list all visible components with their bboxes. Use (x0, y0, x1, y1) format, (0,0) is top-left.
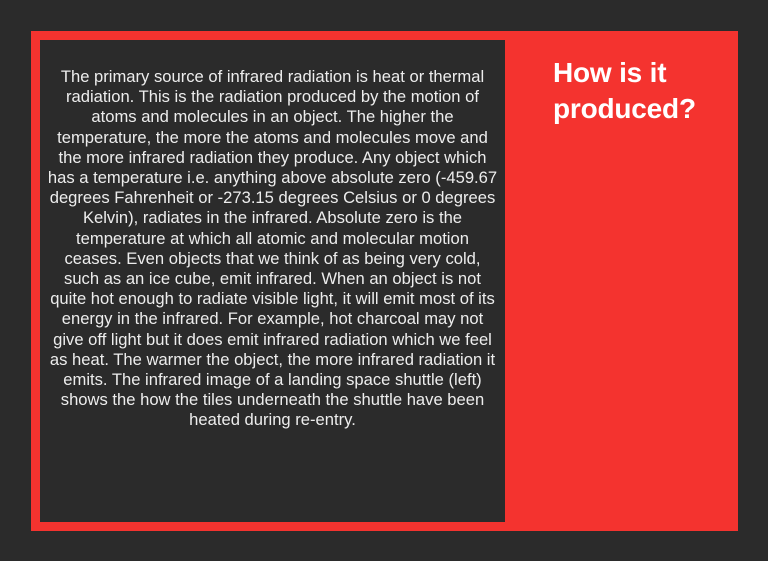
red-content-panel: The primary source of infrared radiation… (31, 31, 738, 531)
slide-canvas: The primary source of infrared radiation… (0, 0, 768, 561)
page-title: How is it produced? (553, 55, 733, 127)
body-paragraph: The primary source of infrared radiation… (40, 40, 505, 441)
body-text-card: The primary source of infrared radiation… (40, 40, 505, 522)
